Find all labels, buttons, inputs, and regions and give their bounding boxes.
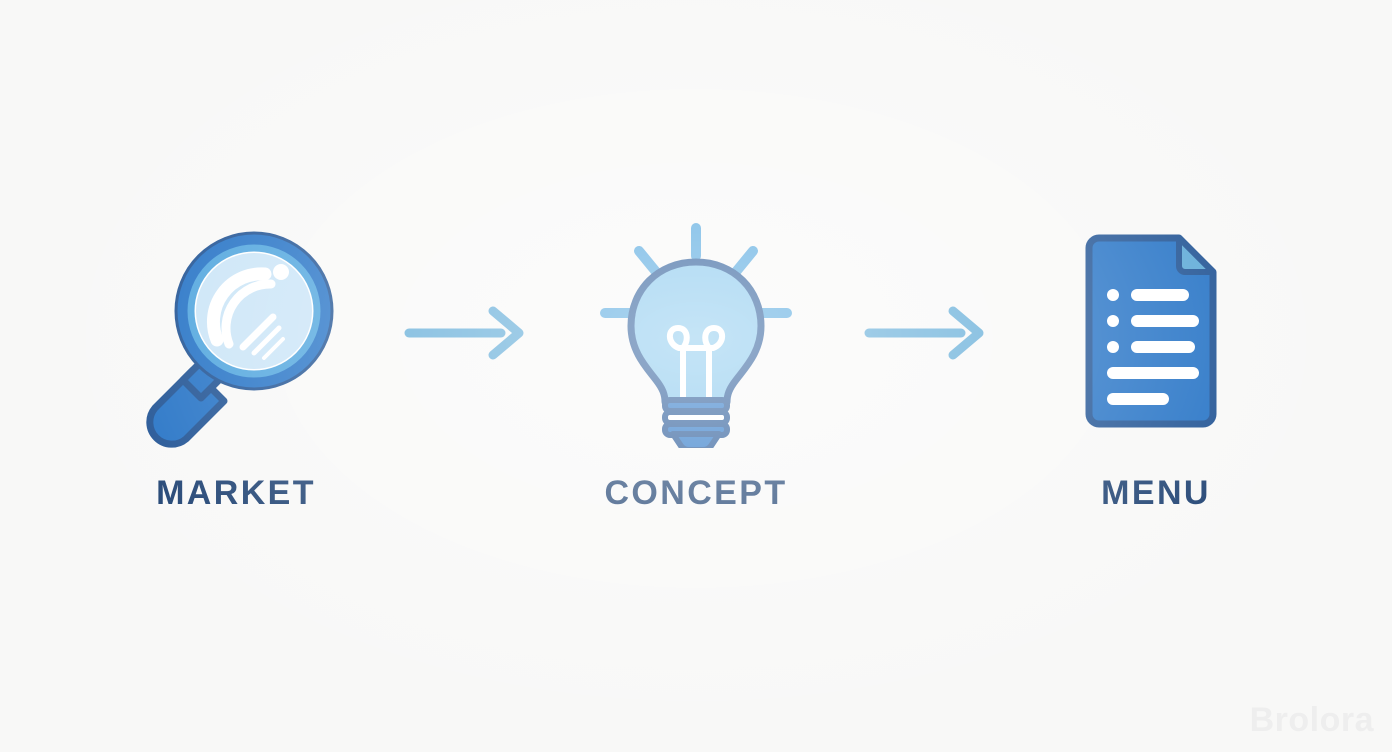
step-market-icon-wrap	[121, 218, 351, 448]
arrow-right-icon	[401, 303, 531, 363]
step-market-label: MARKET	[156, 476, 316, 510]
diagram-canvas: MARKET	[0, 0, 1392, 752]
step-menu-label: MENU	[1101, 476, 1211, 510]
step-menu[interactable]: MENU	[1006, 218, 1306, 510]
process-flow-row: MARKET	[86, 218, 1306, 510]
connector-market-concept	[386, 218, 546, 448]
step-concept-label: CONCEPT	[604, 476, 787, 510]
step-concept[interactable]: CONCEPT	[546, 218, 846, 510]
step-menu-icon-wrap	[1041, 218, 1271, 448]
arrow-right-icon	[861, 303, 991, 363]
document-bullets	[1107, 289, 1119, 353]
step-concept-icon-wrap	[581, 218, 811, 448]
document-list-icon	[1041, 218, 1271, 448]
step-market[interactable]: MARKET	[86, 218, 386, 510]
magnifying-glass-icon	[121, 218, 351, 448]
process-flow: MARKET	[0, 0, 1392, 752]
watermark: Brolora	[1250, 701, 1374, 740]
lightbulb-base	[665, 400, 727, 448]
document-folded-corner	[1179, 238, 1213, 272]
connector-concept-menu	[846, 218, 1006, 448]
lightbulb-icon	[581, 218, 811, 448]
